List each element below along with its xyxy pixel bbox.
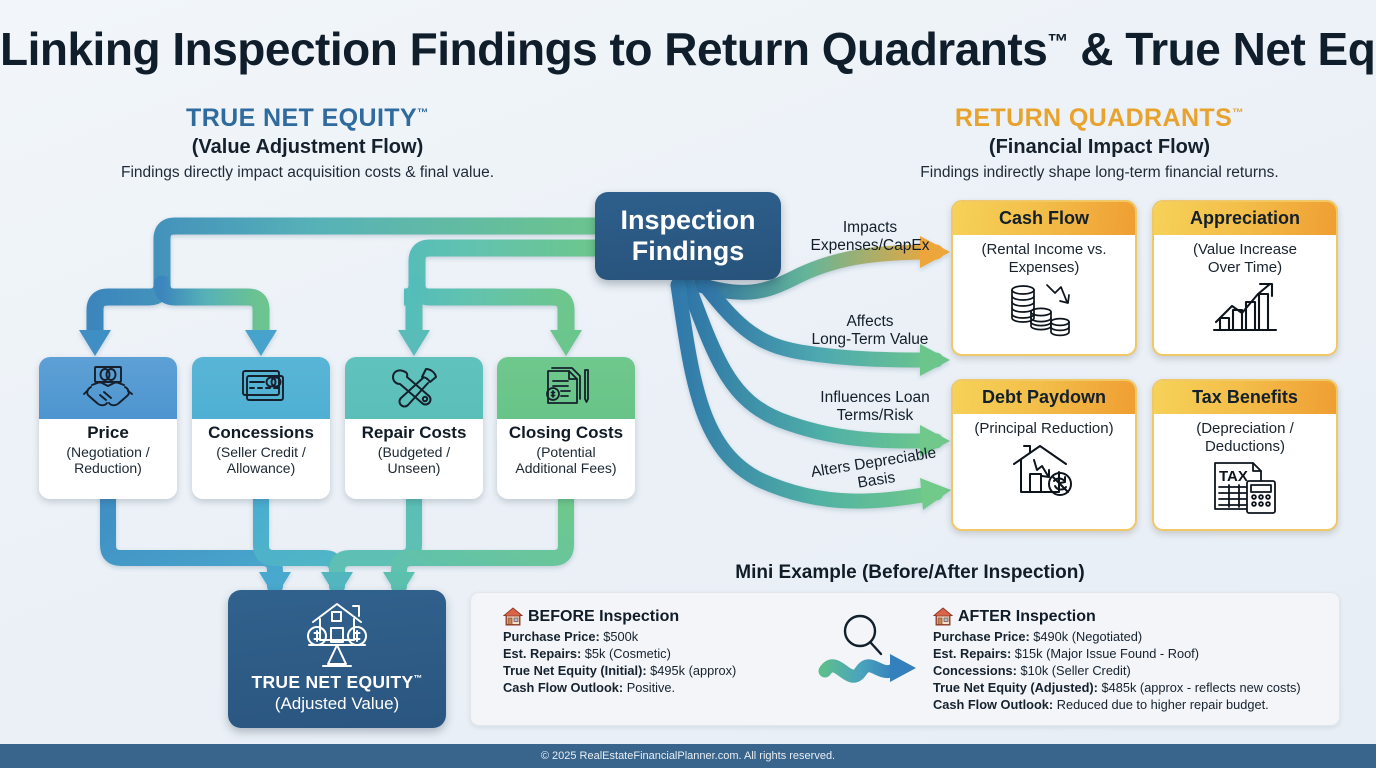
- house-scale-icon: [295, 598, 379, 670]
- documents-fee-icon: [538, 365, 594, 411]
- factor-name: Concessions: [192, 423, 330, 443]
- after-line-value: $490k (Negotiated): [1030, 629, 1142, 644]
- tne-subtitle: (Adjusted Value): [275, 694, 399, 714]
- mini-example-after-column: AFTER Inspection Purchase Price: $490k (…: [933, 607, 1333, 713]
- connector-label-line-1: Affects: [790, 313, 950, 331]
- right-header-subtitle: (Financial Impact Flow): [752, 136, 1376, 159]
- before-line-value: Positive.: [623, 680, 675, 695]
- quadrant-subtitle: (Principal Reduction): [953, 414, 1135, 438]
- trademark-symbol: ™: [1047, 31, 1068, 54]
- quadrant-icon-area: [953, 276, 1135, 347]
- bar-chart-up-arrow-icon: [1210, 280, 1280, 336]
- after-line: Concessions: $10k (Seller Credit): [933, 662, 1333, 679]
- trademark-symbol: ™: [1232, 108, 1244, 120]
- quadrant-subtitle: (Value Increase Over Time): [1154, 235, 1336, 276]
- left-header-caption: Findings directly impact acquisition cos…: [60, 164, 555, 182]
- before-line-value: $5k (Cosmetic): [581, 646, 671, 661]
- house-icon: [503, 607, 523, 626]
- svg-text:TAX: TAX: [1219, 468, 1248, 485]
- true-net-equity-node: TRUE NET EQUITY™ (Adjusted Value): [228, 590, 446, 728]
- factor-name: Price: [39, 423, 177, 443]
- quadrant-title: Debt Paydown: [953, 381, 1135, 414]
- quadrant-icon-area: [953, 438, 1135, 509]
- after-line-value: $10k (Seller Credit): [1017, 663, 1131, 678]
- quadrant-icon-area: TAX: [1154, 455, 1336, 524]
- handshake-money-icon: [78, 365, 138, 411]
- quadrant-card-debt-paydown: Debt Paydown (Principal Reduction): [951, 379, 1137, 531]
- factor-text-area: Price (Negotiation / Reduction): [39, 419, 177, 499]
- factor-subtitle: (Negotiation / Reduction): [39, 444, 177, 476]
- inspection-findings-node: Inspection Findings: [595, 192, 781, 280]
- copyright-text: © 2025 RealEstateFinancialPlanner.com. A…: [541, 750, 835, 762]
- quadrant-icon-area: [1154, 276, 1336, 345]
- house-down-arrow-icon: [1008, 442, 1080, 500]
- quadrant-title: Appreciation: [1154, 202, 1336, 235]
- page-title: Linking Inspection Findings to Return Qu…: [0, 22, 1376, 76]
- connector-label-line-2: Long-Term Value: [790, 331, 950, 349]
- footer-bar: © 2025 RealEstateFinancialPlanner.com. A…: [0, 744, 1376, 768]
- connector-label-tax-benefits: Alters Depreciable Basis: [789, 441, 961, 502]
- before-line: Cash Flow Outlook: Positive.: [503, 679, 833, 696]
- factor-text-area: Closing Costs (Potential Additional Fees…: [497, 419, 635, 499]
- factor-subtitle: (Seller Credit / Allowance): [192, 444, 330, 476]
- trademark-symbol: ™: [413, 673, 422, 683]
- right-header-caption: Findings indirectly shape long-term fina…: [752, 164, 1376, 182]
- connector-label-cash-flow: Impacts Expenses/CapEx: [790, 219, 950, 255]
- after-line-label: Cash Flow Outlook:: [933, 697, 1053, 712]
- factor-icon-area: [39, 357, 177, 419]
- factor-name: Closing Costs: [497, 423, 635, 443]
- after-line-value: Reduced due to higher repair budget.: [1053, 697, 1269, 712]
- factor-icon-area: [192, 357, 330, 419]
- mini-example-panel: BEFORE Inspection Purchase Price: $500k …: [470, 592, 1340, 726]
- infographic-canvas: Linking Inspection Findings to Return Qu…: [0, 0, 1376, 768]
- left-header-title: TRUE NET EQUITY™: [60, 104, 555, 133]
- title-part-a: Linking Inspection Findings to Return Qu…: [0, 23, 1047, 75]
- right-column-header: RETURN QUADRANTS™ (Financial Impact Flow…: [752, 104, 1376, 182]
- hub-line-2: Findings: [620, 236, 755, 267]
- after-heading-text: AFTER Inspection: [958, 608, 1096, 626]
- factor-name: Repair Costs: [345, 423, 483, 443]
- house-icon: [933, 607, 953, 626]
- left-header-title-text: TRUE NET EQUITY: [186, 104, 417, 132]
- connector-label-line-2: Terms/Risk: [790, 407, 960, 425]
- tne-label: TRUE NET EQUITY™: [251, 672, 422, 693]
- connector-label-debt-paydown: Influences Loan Terms/Risk: [790, 389, 960, 425]
- quadrant-title: Cash Flow: [953, 202, 1135, 235]
- before-line-label: Purchase Price:: [503, 629, 600, 644]
- quadrant-card-cash-flow: Cash Flow (Rental Income vs. Expenses): [951, 200, 1137, 356]
- before-line: Est. Repairs: $5k (Cosmetic): [503, 645, 833, 662]
- after-line: Est. Repairs: $15k (Major Issue Found - …: [933, 645, 1333, 662]
- factor-card-concessions: Concessions (Seller Credit / Allowance): [192, 357, 330, 499]
- quadrant-subtitle: (Depreciation / Deductions): [1154, 414, 1336, 455]
- right-header-title-text: RETURN QUADRANTS: [955, 104, 1232, 132]
- after-line: True Net Equity (Adjusted): $485k (appro…: [933, 679, 1333, 696]
- factor-text-area: Repair Costs (Budgeted / Unseen): [345, 419, 483, 499]
- connector-label-line-2: Expenses/CapEx: [790, 237, 950, 255]
- before-heading-text: BEFORE Inspection: [528, 608, 679, 626]
- after-line: Cash Flow Outlook: Reduced due to higher…: [933, 696, 1333, 713]
- connector-label-appreciation: Affects Long-Term Value: [790, 313, 950, 349]
- magnifier-wave-arrow-icon: [815, 609, 935, 701]
- after-line-label: Purchase Price:: [933, 629, 1030, 644]
- before-line-label: True Net Equity (Initial):: [503, 663, 647, 678]
- tne-label-text: TRUE NET EQUITY: [251, 672, 413, 692]
- before-line-value: $500k: [600, 629, 638, 644]
- after-line-value: $485k (approx - reflects new costs): [1098, 680, 1301, 695]
- factor-icon-area: [497, 357, 635, 419]
- factor-subtitle: (Potential Additional Fees): [497, 444, 635, 476]
- before-heading: BEFORE Inspection: [503, 607, 833, 626]
- quadrant-title: Tax Benefits: [1154, 381, 1336, 414]
- factor-subtitle: (Budgeted / Unseen): [345, 444, 483, 476]
- before-line: True Net Equity (Initial): $495k (approx…: [503, 662, 833, 679]
- after-line-value: $15k (Major Issue Found - Roof): [1011, 646, 1199, 661]
- credit-cards-icon: [231, 366, 291, 410]
- after-line-label: Concessions:: [933, 663, 1017, 678]
- trademark-symbol: ™: [417, 108, 429, 120]
- before-line: Purchase Price: $500k: [503, 628, 833, 645]
- quadrant-card-appreciation: Appreciation (Value Increase Over Time): [1152, 200, 1338, 356]
- mini-example-before-column: BEFORE Inspection Purchase Price: $500k …: [503, 607, 833, 696]
- title-part-b: & True Net Equity: [1068, 23, 1376, 75]
- factor-card-repair-costs: Repair Costs (Budgeted / Unseen): [345, 357, 483, 499]
- after-line-label: True Net Equity (Adjusted):: [933, 680, 1098, 695]
- factor-icon-area: [345, 357, 483, 419]
- before-line-label: Est. Repairs:: [503, 646, 581, 661]
- wrench-hammer-icon: [386, 365, 442, 411]
- factor-card-price: Price (Negotiation / Reduction): [39, 357, 177, 499]
- before-line-value: $495k (approx): [647, 663, 737, 678]
- mini-example-title: Mini Example (Before/After Inspection): [470, 562, 1350, 584]
- left-column-header: TRUE NET EQUITY™ (Value Adjustment Flow)…: [60, 104, 555, 182]
- after-heading: AFTER Inspection: [933, 607, 1333, 626]
- connector-label-line-1: Influences Loan: [790, 389, 960, 407]
- before-line-label: Cash Flow Outlook:: [503, 680, 623, 695]
- left-header-subtitle: (Value Adjustment Flow): [60, 136, 555, 159]
- quadrant-subtitle: (Rental Income vs. Expenses): [953, 235, 1135, 276]
- after-line-label: Est. Repairs:: [933, 646, 1011, 661]
- after-line: Purchase Price: $490k (Negotiated): [933, 628, 1333, 645]
- quadrant-card-tax-benefits: Tax Benefits (Depreciation / Deductions)…: [1152, 379, 1338, 531]
- right-header-title: RETURN QUADRANTS™: [752, 104, 1376, 133]
- connector-label-line-1: Impacts: [790, 219, 950, 237]
- tax-calculator-icon: TAX: [1209, 459, 1281, 515]
- factor-text-area: Concessions (Seller Credit / Allowance): [192, 419, 330, 499]
- factor-card-closing-costs: Closing Costs (Potential Additional Fees…: [497, 357, 635, 499]
- hub-line-1: Inspection: [620, 205, 755, 236]
- coin-stack-down-arrow-icon: [1007, 280, 1081, 338]
